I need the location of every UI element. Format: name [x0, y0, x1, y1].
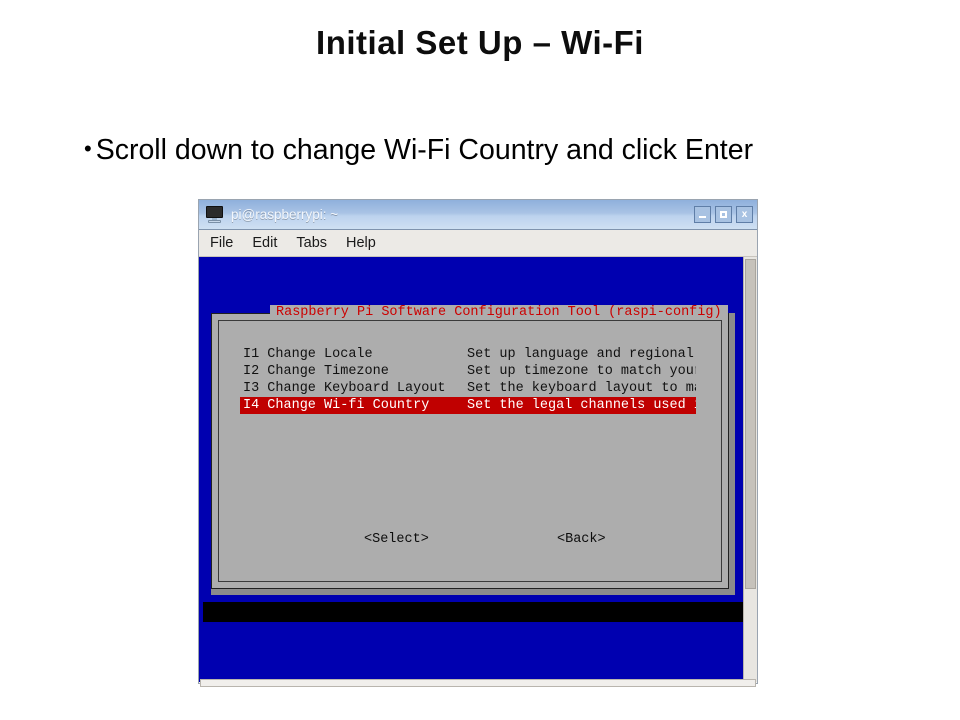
terminal-window: pi@raspberrypi: ~ x File Edit Tabs Help …	[198, 199, 758, 684]
terminal-screen[interactable]: Raspberry Pi Software Configuration Tool…	[199, 257, 743, 682]
close-button[interactable]: x	[736, 206, 753, 223]
list-item-selected[interactable]: I4 Change Wi-fi Country Set the legal ch…	[240, 397, 696, 414]
list-item-description: Set the keyboard layout to match	[467, 381, 696, 396]
window-titlebar[interactable]: pi@raspberrypi: ~ x	[199, 200, 757, 230]
list-item-label: I4 Change Wi-fi Country	[240, 398, 467, 413]
config-menu-list: I1 Change Locale Set up language and reg…	[240, 346, 696, 414]
maximize-button[interactable]	[715, 206, 732, 223]
bullet-text: Scroll down to change Wi-Fi Country and …	[96, 134, 753, 166]
page-title: Initial Set Up – Wi-Fi	[0, 24, 960, 62]
terminal-scrollbar[interactable]	[743, 257, 757, 682]
list-item-label: I2 Change Timezone	[240, 364, 467, 379]
menu-item-help[interactable]: Help	[346, 235, 376, 251]
minimize-button[interactable]	[694, 206, 711, 223]
monitor-icon	[205, 206, 224, 223]
menu-item-file[interactable]: File	[210, 235, 233, 251]
raspi-config-dialog: Raspberry Pi Software Configuration Tool…	[211, 313, 729, 589]
menu-item-tabs[interactable]: Tabs	[296, 235, 327, 251]
menu-item-edit[interactable]: Edit	[252, 235, 277, 251]
list-item-label: I1 Change Locale	[240, 347, 467, 362]
bullet-item: •Scroll down to change Wi-Fi Country and…	[84, 134, 753, 167]
list-item[interactable]: I2 Change Timezone Set up timezone to ma…	[240, 363, 696, 380]
select-button[interactable]: <Select>	[364, 532, 429, 547]
back-button[interactable]: <Back>	[557, 532, 606, 547]
window-title: pi@raspberrypi: ~	[231, 207, 694, 222]
list-item-description: Set the legal channels used in yo	[467, 398, 696, 413]
window-controls: x	[694, 206, 753, 223]
bullet-marker: •	[84, 136, 92, 161]
terminal-status-bar	[203, 602, 743, 622]
list-item[interactable]: I1 Change Locale Set up language and reg…	[240, 346, 696, 363]
menu-bar: File Edit Tabs Help	[199, 230, 757, 257]
terminal-body: Raspberry Pi Software Configuration Tool…	[199, 257, 757, 682]
list-item-description: Set up language and regional sett	[467, 347, 696, 362]
scrollbar-thumb[interactable]	[745, 259, 756, 589]
list-item[interactable]: I3 Change Keyboard Layout Set the keyboa…	[240, 380, 696, 397]
window-bottom-edge	[200, 679, 756, 687]
list-item-label: I3 Change Keyboard Layout	[240, 381, 467, 396]
list-item-description: Set up timezone to match your loc	[467, 364, 696, 379]
dialog-title: Raspberry Pi Software Configuration Tool…	[270, 305, 728, 320]
